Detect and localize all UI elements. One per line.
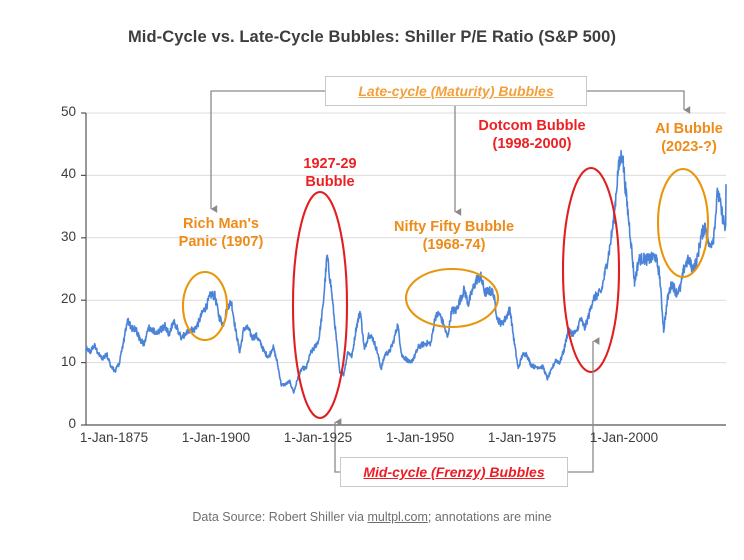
marker-nifty-fifty <box>406 269 498 327</box>
annotation-line-1: 1927-29 <box>268 156 392 174</box>
y-tick-label-10: 10 <box>34 354 76 369</box>
y-tick-label-0: 0 <box>34 416 76 431</box>
marker-dotcom <box>563 168 619 372</box>
marker-ai-bubble <box>658 169 708 277</box>
caption-prefix: Data Source: Robert Shiller via <box>192 510 367 524</box>
annotation-line-2: Panic (1907) <box>150 234 292 252</box>
annotation-line-1: AI Bubble <box>634 121 744 139</box>
axis-ticks <box>81 113 86 425</box>
annotation-rich-mans-panic: Rich Man's Panic (1907) <box>150 216 292 251</box>
x-tick-label-2000: 1-Jan-2000 <box>554 430 694 445</box>
annotation-line-2: Bubble <box>268 174 392 192</box>
connectors-late-cycle <box>211 91 684 212</box>
annotation-line-1: Dotcom Bubble <box>452 118 612 136</box>
y-tick-label-20: 20 <box>34 291 76 306</box>
caption-suffix: ; annotations are mine <box>428 510 552 524</box>
axis-lines <box>86 113 726 425</box>
y-tick-label-30: 30 <box>34 229 76 244</box>
annotation-nifty-fifty-bubble: Nifty Fifty Bubble (1968-74) <box>370 219 538 254</box>
connectors-mid-cycle <box>335 341 593 472</box>
annotation-ai-bubble: AI Bubble (2023-?) <box>634 121 744 156</box>
marker-1927-29-bubble <box>293 192 347 418</box>
bubble-markers <box>183 168 708 418</box>
annotation-line-1: Rich Man's <box>150 216 292 234</box>
annotation-line-2: (1998-2000) <box>452 136 612 154</box>
annotation-1927-29-bubble: 1927-29 Bubble <box>268 156 392 191</box>
data-source-caption: Data Source: Robert Shiller via multpl.c… <box>0 510 744 524</box>
source-link-multpl[interactable]: multpl.com <box>367 510 427 524</box>
y-tick-label-40: 40 <box>34 166 76 181</box>
connector-to-dotcom <box>568 341 593 472</box>
callout-mid-cycle-bubbles[interactable]: Mid-cycle (Frenzy) Bubbles <box>340 457 568 487</box>
connector-to-ai-bubble <box>587 91 684 110</box>
callout-late-cycle-bubbles[interactable]: Late-cycle (Maturity) Bubbles <box>325 76 587 106</box>
annotation-line-2: (1968-74) <box>370 237 538 255</box>
chart-page: Mid-Cycle vs. Late-Cycle Bubbles: Shille… <box>0 0 744 560</box>
series-line-shiller-pe <box>86 151 726 393</box>
annotation-dotcom-bubble: Dotcom Bubble (1998-2000) <box>452 118 612 153</box>
y-tick-label-50: 50 <box>34 104 76 119</box>
annotation-line-1: Nifty Fifty Bubble <box>370 219 538 237</box>
annotation-line-2: (2023-?) <box>634 139 744 157</box>
